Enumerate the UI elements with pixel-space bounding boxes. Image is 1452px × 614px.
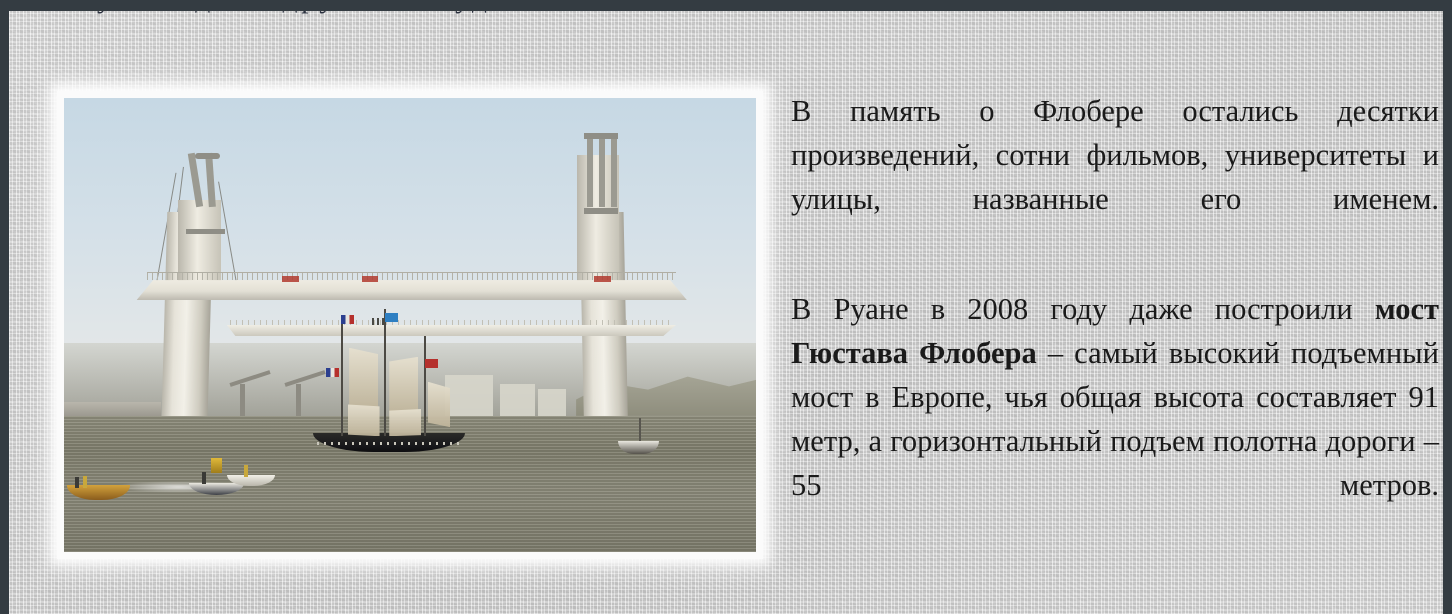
lift-gear-right-2 [599,134,605,207]
deck-sign-3 [594,276,611,282]
silo-building-1 [445,375,493,416]
tall-ship-sail-1 [349,348,378,412]
text-run: В память о Флобере остались десятки прои… [791,94,1439,216]
paragraph-memory: В память о Флобере остались десятки прои… [791,89,1439,265]
lift-gear-right-1 [587,134,593,207]
tall-ship-mast-2 [384,309,386,436]
tall-ship-sail-4 [389,409,421,436]
deck-sign-1 [282,276,299,282]
slide-text-column: В память о Флобере остались десятки прои… [791,89,1439,551]
tugboat-mast [639,418,641,441]
boat-pennant [211,458,222,473]
bridge-photo-image [64,98,756,552]
person-on-boat-1 [75,477,79,489]
french-flag-1 [341,315,354,325]
tall-ship-mast-1 [341,323,343,437]
red-flag [425,359,438,369]
tall-ship-mast-3 [424,336,426,436]
tall-ship-sail-2 [348,404,380,436]
walkway-railing [230,320,673,325]
raised-bridge-deck [137,280,687,300]
lower-walkway [227,325,677,337]
lift-gear-right-5 [584,208,617,214]
tall-ship-stripe [317,442,462,445]
lift-gear-left-4 [186,229,225,234]
bridge-photo-frame [57,91,763,559]
text-run: В Руане в 2008 году даже построили [791,292,1375,326]
blue-flag [385,313,398,323]
presentation-slide: у них даже дружба не удалась [0,0,1452,614]
french-flag-2 [326,368,339,378]
slide-content-area: у них даже дружба не удалась [9,11,1443,614]
tall-ship-sail-3 [389,357,418,416]
lift-gear-right-4 [584,133,617,139]
silo-building-2 [500,384,535,416]
person-on-boat-3 [202,472,206,484]
clipped-heading-text: у них даже дружба не удалась [97,0,697,21]
tall-ship-sail-5 [428,382,450,427]
person-on-boat-2 [83,476,87,488]
silo-building-3 [538,389,566,416]
lift-gear-left-3 [195,153,220,159]
person-on-boat-4 [244,465,248,477]
paragraph-bridge: В Руане в 2008 году даже построили мост … [791,287,1439,551]
lift-gear-right-3 [611,134,617,207]
deck-sign-2 [362,276,379,282]
